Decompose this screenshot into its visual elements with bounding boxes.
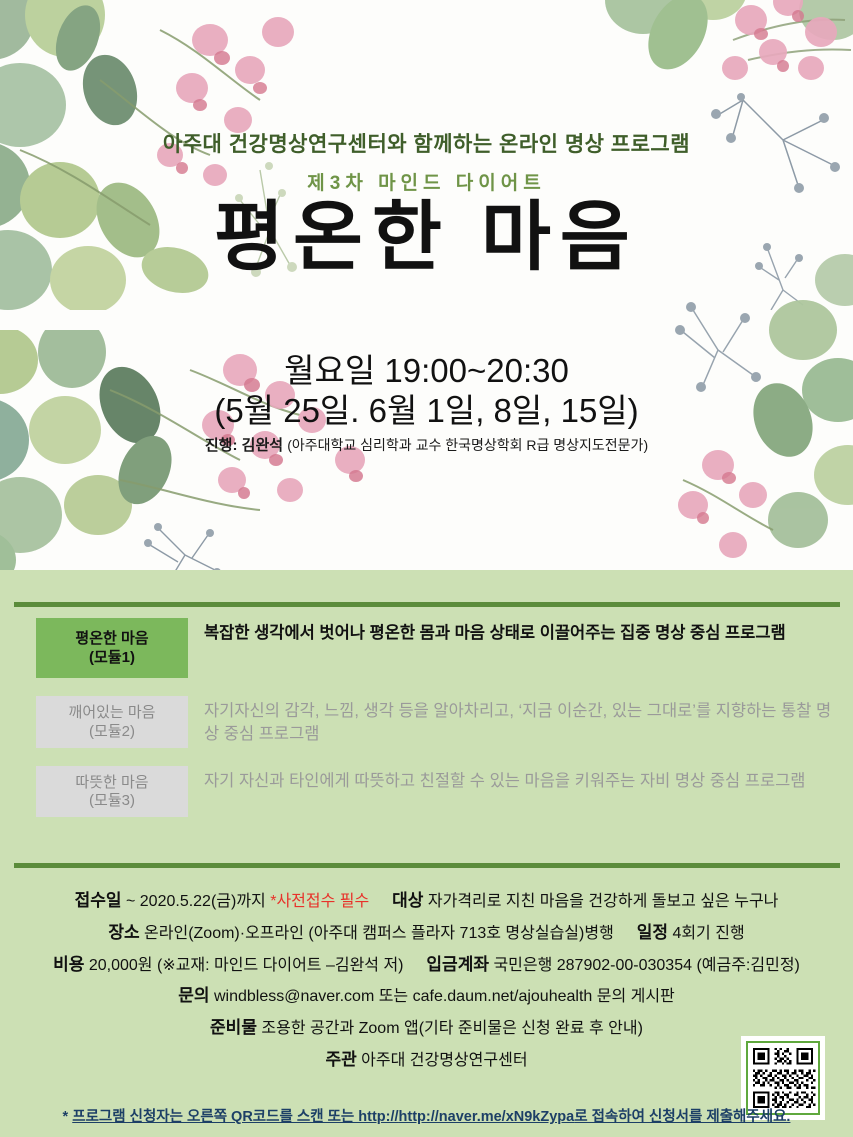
footer-asterisk: * [63,1109,69,1125]
info-value-contact[interactable]: windbless@naver.com 또는 cafe.daum.net/ajo… [214,988,675,1005]
footer-note: * 프로그램 신청자는 오른쪽 QR코드를 스캔 또는 http://http:… [0,1105,853,1126]
module-description-3: 자기 자신과 타인에게 따뜻하고 친절할 수 있는 마음을 키워주는 자비 명상… [188,766,840,793]
info-value-bank-account: 국민은행 287902-00-030354 (예금주:김민정) [493,957,799,974]
qr-code-border [746,1041,820,1115]
info-line-contact: 문의 windbless@naver.com 또는 cafe.daum.net/… [0,985,853,1008]
info-label-location: 장소 [108,923,139,942]
module-chip-1[interactable]: 평온한 마음 (모듈1) [36,618,188,678]
module-chip-2[interactable]: 깨어있는 마음 (모듈2) [36,696,188,748]
info-line-cost: 비용 20,000원 (※교재: 마인드 다이어트 –김완석 저) 입금계좌 국… [0,954,853,977]
info-label-bank-account: 입금계좌 [426,955,489,974]
info-value-target: 자가격리로 지친 마음을 건강하게 돌보고 싶은 누구나 [428,893,779,910]
module-name-3: 따뜻한 마음 [75,774,148,791]
module-row[interactable]: 깨어있는 마음 (모듈2) 자기자신의 감각, 느낌, 생각 등을 알아차리고,… [14,696,840,748]
info-value-location: 온라인(Zoom)·오프라인 (아주대 캠퍼스 플라자 713호 명상실습실)병… [144,925,614,942]
program-detail-section: 평온한 마음 (모듈1) 복잡한 생각에서 벗어나 평온한 몸과 마음 상태로 … [0,570,853,1137]
footer-text-after: 로 접속하여 신청서를 제출해주세요. [574,1109,790,1125]
organizer-line: 아주대 건강명상연구센터와 함께하는 온라인 명상 프로그램 [0,128,853,158]
info-label-contact: 문의 [178,986,209,1005]
qr-code-icon [748,1043,818,1113]
info-value-organizer: 아주대 건강명상연구센터 [361,1052,527,1069]
poster-root: 아주대 건강명상연구센터와 함께하는 온라인 명상 프로그램 제3차 마인드 다… [0,0,853,1137]
schedule-dates-line: (5월 25일. 6월 1일, 8일, 15일) [0,384,853,432]
info-value-schedule: 4회기 진행 [672,925,744,942]
poster-header-section: 아주대 건강명상연구센터와 함께하는 온라인 명상 프로그램 제3차 마인드 다… [0,0,853,570]
info-label-schedule: 일정 [637,923,668,942]
module-number-2: (모듈2) [40,723,184,742]
info-line-location: 장소 온라인(Zoom)·오프라인 (아주대 캠퍼스 플라자 713호 명상실습… [0,922,853,945]
page-title: 평온한 마음 [0,198,853,278]
module-description-2: 자기자신의 감각, 느낌, 생각 등을 알아차리고, ‘지금 이순간, 있는 그… [188,696,840,747]
module-name-1: 평온한 마음 [75,630,148,647]
module-chip-3[interactable]: 따뜻한 마음 (모듈3) [36,766,188,818]
info-value-application-date: ~ 2020.5.22(금)까지 [126,893,266,910]
info-line-application: 접수일 ~ 2020.5.22(금)까지 *사전접수 필수 대상 자가격리로 지… [0,890,853,913]
info-note-preregistration: *사전접수 필수 [270,893,369,910]
divider-top [14,602,840,607]
info-label-cost: 비용 [53,955,84,974]
module-row[interactable]: 평온한 마음 (모듈1) 복잡한 생각에서 벗어나 평온한 몸과 마음 상태로 … [14,618,840,678]
info-line-organizer: 주관 아주대 건강명상연구센터 [0,1049,853,1072]
info-label-application-date: 접수일 [75,891,122,910]
module-number-1: (모듈1) [40,649,184,668]
divider-bottom [14,863,840,868]
info-line-materials: 준비물 조용한 공간과 Zoom 앱(기타 준비물은 신청 완료 후 안내) [0,1017,853,1040]
module-row[interactable]: 따뜻한 마음 (모듈3) 자기 자신과 타인에게 따뜻하고 친절할 수 있는 마… [14,766,840,818]
footer-text-before: 프로그램 신청자는 오른쪽 QR코드를 스캔 또는 http:// [72,1109,398,1125]
module-list: 평온한 마음 (모듈1) 복잡한 생각에서 벗어나 평온한 몸과 마음 상태로 … [14,618,840,835]
host-label: 진행: 김완석 [205,437,283,454]
footer-url-link[interactable]: http://naver.me/xN9kZypa [399,1109,575,1125]
info-label-target: 대상 [392,891,423,910]
module-description-1: 복잡한 생각에서 벗어나 평온한 몸과 마음 상태로 이끌어주는 집중 명상 중… [188,618,840,645]
module-number-3: (모듈3) [40,792,184,811]
series-line: 제3차 마인드 다이어트 [0,168,853,195]
host-detail: (아주대학교 심리학과 교수 한국명상학회 R급 명상지도전문가) [287,437,648,453]
info-label-materials: 준비물 [210,1018,257,1037]
info-block: 접수일 ~ 2020.5.22(금)까지 *사전접수 필수 대상 자가격리로 지… [0,890,853,1081]
info-value-cost: 20,000원 (※교재: 마인드 다이어트 –김완석 저) [89,957,404,974]
host-line: 진행: 김완석 (아주대학교 심리학과 교수 한국명상학회 R급 명상지도전문가… [0,434,853,455]
info-value-materials: 조용한 공간과 Zoom 앱(기타 준비물은 신청 완료 후 안내) [261,1020,643,1037]
info-label-organizer: 주관 [325,1050,356,1069]
module-name-2: 깨어있는 마음 [69,704,156,721]
